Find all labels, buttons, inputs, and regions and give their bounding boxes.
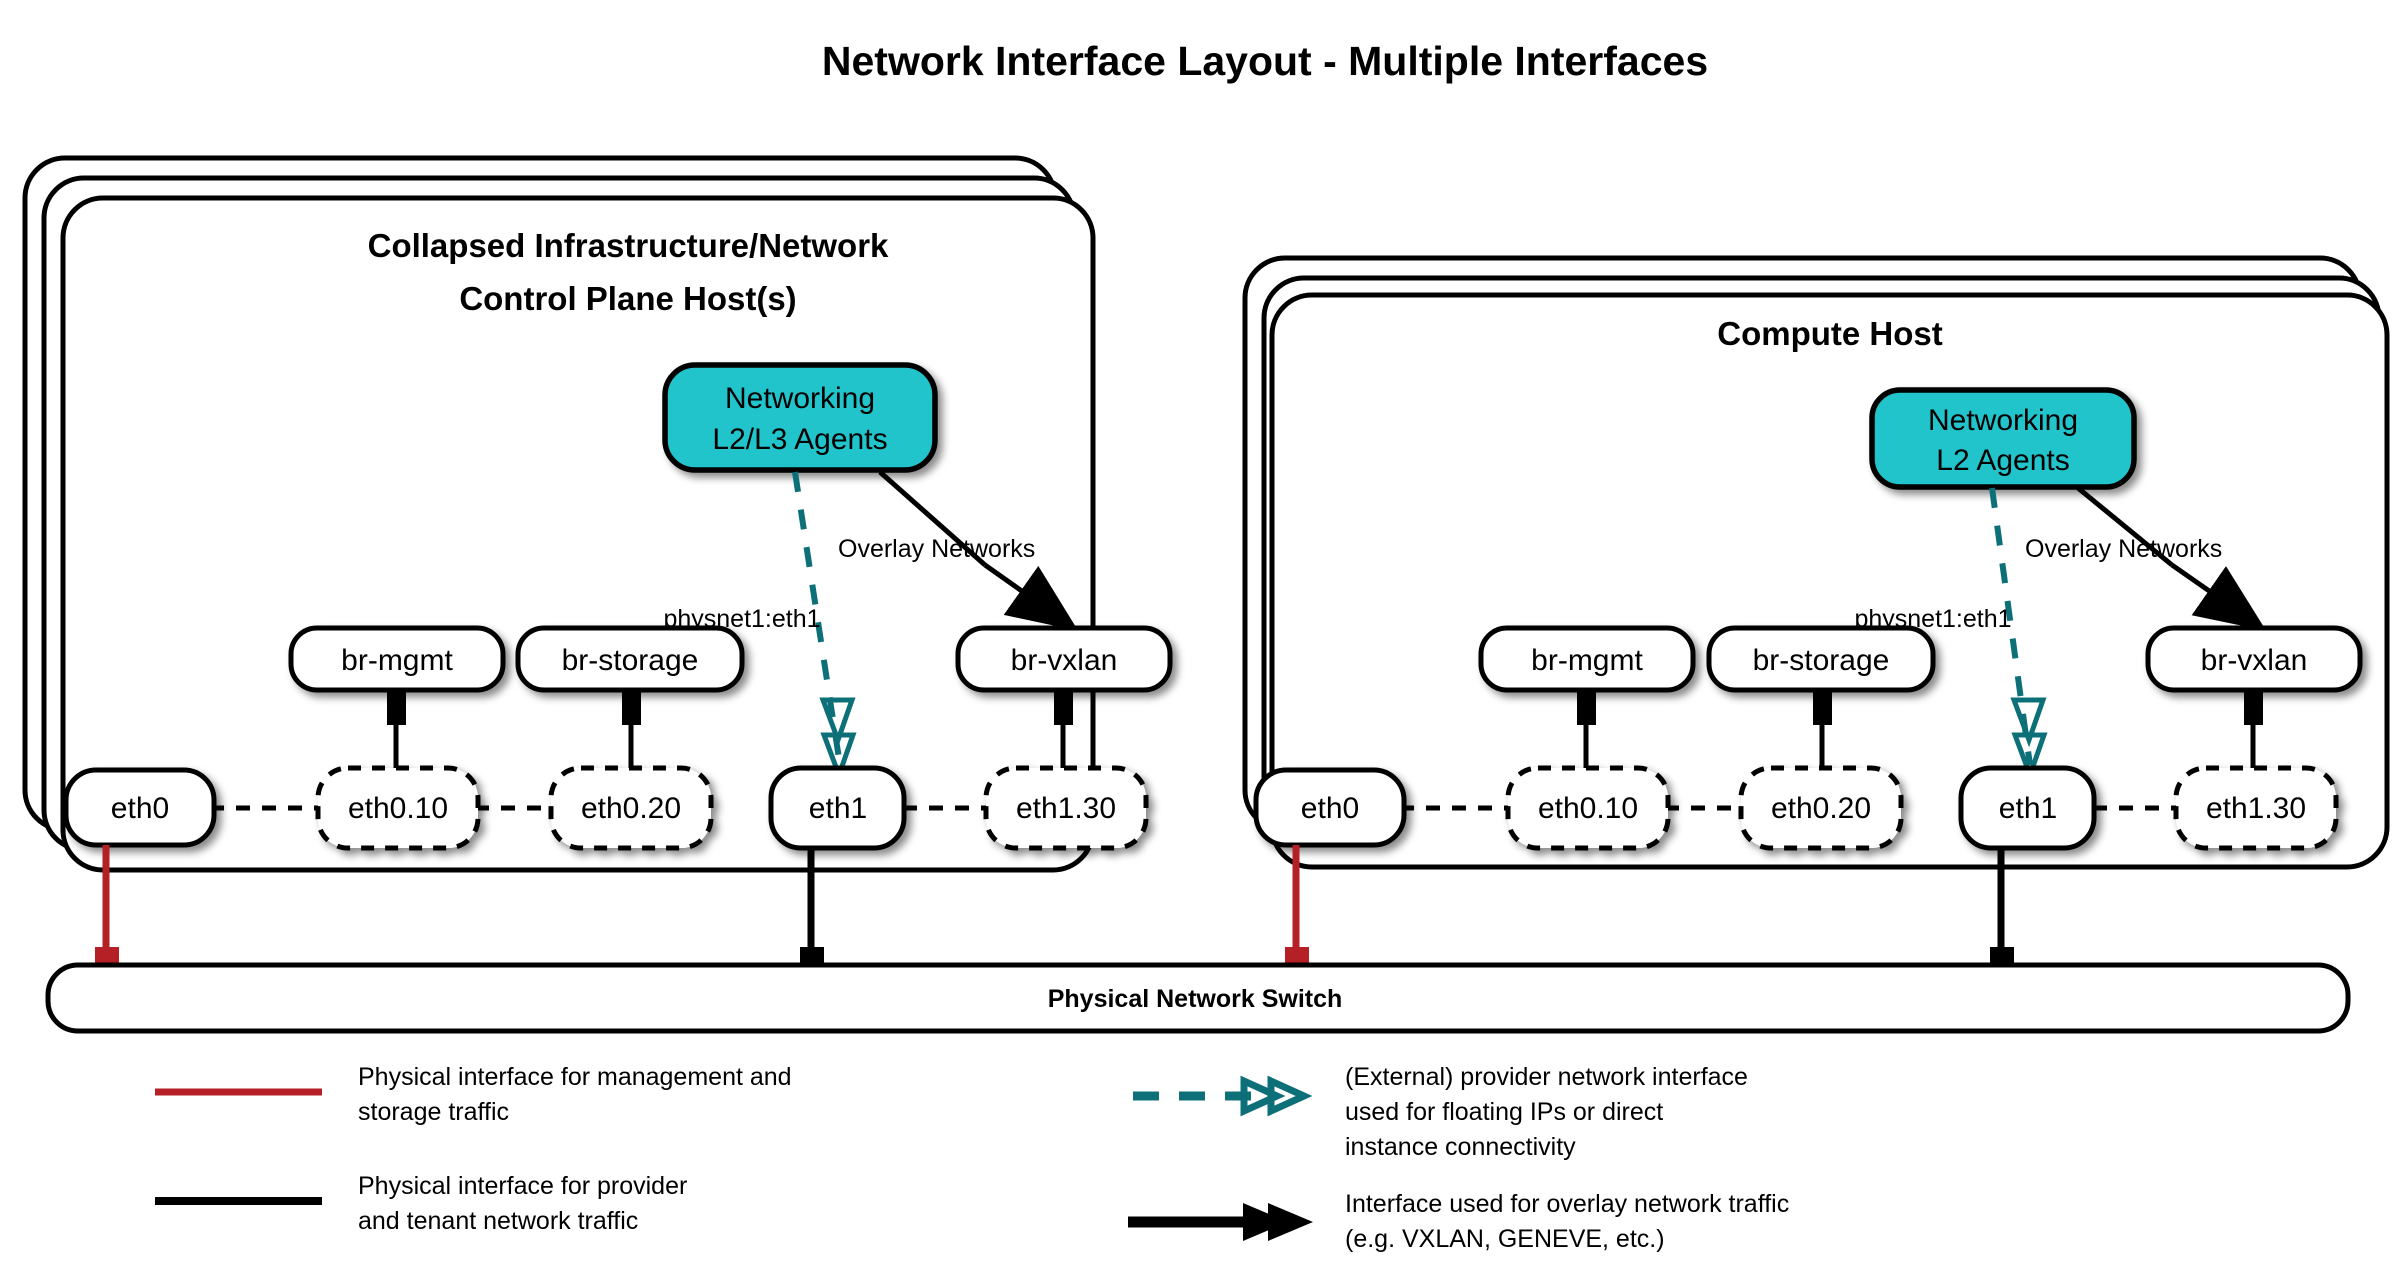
network-interface-diagram: Network Interface Layout - Multiple Inte… xyxy=(0,0,2394,1274)
legend-text-overlay-line2: (e.g. VXLAN, GENEVE, etc.) xyxy=(1345,1225,1665,1253)
bridge-label-br-mgmt: br-mgmt xyxy=(341,644,453,677)
legend-text-overlay-line1: Interface used for overlay network traff… xyxy=(1345,1190,1789,1218)
page-title: Network Interface Layout - Multiple Inte… xyxy=(822,38,1708,84)
switch-label: Physical Network Switch xyxy=(1048,985,1343,1013)
interface-label-eth1-compute: eth1 xyxy=(1999,792,2057,825)
host-title-line2: Control Plane Host(s) xyxy=(459,280,796,317)
host-title-compute: Compute Host xyxy=(1717,315,1943,352)
legend-swatch-black-arrow-head2 xyxy=(1268,1203,1313,1241)
legend-text-external-line2: used for floating IPs or direct xyxy=(1345,1098,1663,1126)
legend-item-overlay-traffic: Interface used for overlay network traff… xyxy=(1128,1190,1789,1253)
overlay-networks-label: Overlay Networks xyxy=(838,535,1035,563)
interface-label-eth1-30-compute: eth1.30 xyxy=(2206,792,2306,825)
diagram-canvas: Network Interface Layout - Multiple Inte… xyxy=(0,0,2394,1274)
interface-label-eth1-30: eth1.30 xyxy=(1016,792,1116,825)
legend-text-mgmt-line2: storage traffic xyxy=(358,1098,509,1126)
physical-network-switch[interactable]: Physical Network Switch xyxy=(48,965,2348,1031)
interface-label-eth1: eth1 xyxy=(809,792,867,825)
bridge-label-br-storage: br-storage xyxy=(562,644,699,677)
interface-label-eth0-20: eth0.20 xyxy=(581,792,681,825)
legend-text-provider-line2: and tenant network traffic xyxy=(358,1207,638,1235)
host-title-line1: Collapsed Infrastructure/Network xyxy=(368,227,889,264)
interface-label-eth0-10-compute: eth0.10 xyxy=(1538,792,1638,825)
legend-text-mgmt-line1: Physical interface for management and xyxy=(358,1063,792,1091)
legend-text-external-line3: instance connectivity xyxy=(1345,1133,1576,1161)
legend-item-provider-tenant: Physical interface for provider and tena… xyxy=(155,1172,687,1235)
agent-label-line1: Networking xyxy=(725,382,875,415)
bridge-label-br-mgmt-compute: br-mgmt xyxy=(1531,644,1643,677)
host-control-plane[interactable]: Collapsed Infrastructure/Network Control… xyxy=(25,158,1170,981)
agent-label-line1-compute: Networking xyxy=(1928,404,2078,437)
legend-text-provider-line1: Physical interface for provider xyxy=(358,1172,687,1200)
agent-label-line2: L2/L3 Agents xyxy=(712,423,887,456)
legend-item-mgmt-storage: Physical interface for management and st… xyxy=(155,1063,792,1126)
interface-label-eth0-20-compute: eth0.20 xyxy=(1771,792,1871,825)
interface-label-eth0: eth0 xyxy=(111,792,169,825)
agent-label-line2-compute: L2 Agents xyxy=(1936,444,2069,477)
legend-swatch-teal-double-chevron xyxy=(1244,1081,1304,1111)
legend-text-external-line1: (External) provider network interface xyxy=(1345,1063,1748,1091)
overlay-networks-label-compute: Overlay Networks xyxy=(2025,535,2222,563)
legend: Physical interface for management and st… xyxy=(155,1063,1789,1253)
legend-item-external-provider: (External) provider network interface us… xyxy=(1133,1063,1748,1161)
interface-label-eth0-compute: eth0 xyxy=(1301,792,1359,825)
interface-label-eth0-10: eth0.10 xyxy=(348,792,448,825)
host-compute[interactable]: Compute Host Networking L2 Agents Overla… xyxy=(1245,258,2387,981)
bridge-label-br-vxlan: br-vxlan xyxy=(1011,644,1118,677)
bridge-label-br-vxlan-compute: br-vxlan xyxy=(2201,644,2308,677)
bridge-label-br-storage-compute: br-storage xyxy=(1753,644,1890,677)
